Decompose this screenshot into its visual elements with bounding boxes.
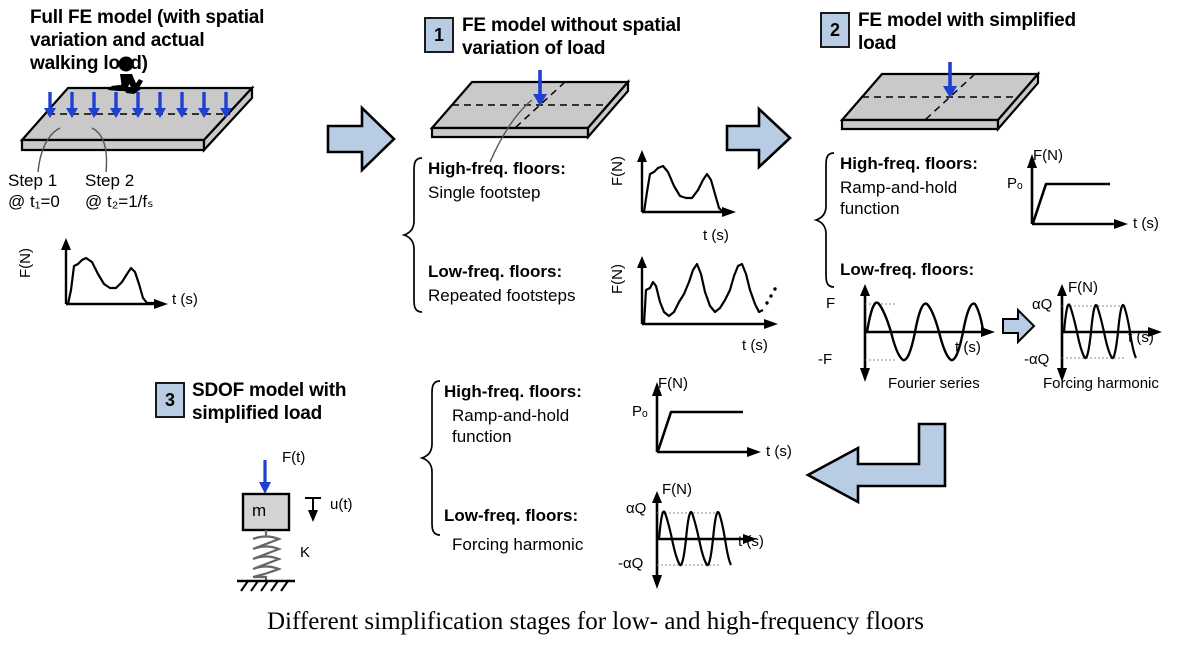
stage1-row0-heading: High-freq. floors:	[428, 158, 566, 179]
sdof-force-arrow	[259, 460, 271, 494]
stage0-plot-xlabel: t (s)	[172, 292, 198, 308]
ground-hatching	[241, 581, 288, 591]
stage2-row0-ytick: Pₒ	[1007, 176, 1023, 192]
stage2-row0-text: Ramp-and-hold function	[840, 177, 980, 219]
step2-leader	[92, 128, 106, 172]
stage2-harmonic-ytick-bottom: -αQ	[1024, 352, 1049, 368]
stage3-row1-ytick-bottom: -αQ	[618, 556, 643, 572]
stage3-row1-plot	[625, 485, 805, 593]
sdof-displacement-arrow	[305, 498, 321, 522]
stage2-harmonic-ytick-top: αQ	[1032, 297, 1052, 313]
stage1-row0-xlabel: t (s)	[703, 228, 729, 244]
figure-caption: Different simplification stages for low-…	[0, 608, 1191, 636]
stage1-row0-curve	[644, 166, 722, 212]
stage2-number-box: 2	[820, 12, 850, 48]
stage2-fourier-ytick-top: F	[826, 296, 835, 312]
stage1-row1-xlabel: t (s)	[742, 338, 768, 354]
sdof-mass-label: m	[252, 500, 266, 521]
stage0-title: Full FE model (with spatial variation an…	[30, 6, 275, 75]
stage2-harmonic-xlabel: t (s)	[1128, 330, 1154, 346]
stage2-fourier-ytick-bottom: -F	[818, 352, 832, 368]
stage2-ramp-hold-curve	[1033, 184, 1110, 223]
stage1-number-box: 1	[424, 17, 454, 53]
sdof-spring-label: K	[300, 545, 310, 561]
step1-line1: Step 1	[8, 170, 60, 191]
stage3-number-box: 3	[155, 382, 185, 418]
stage2-fourier-plot	[835, 282, 1025, 386]
stage1-row0-text: Single footstep	[428, 182, 540, 203]
stage1-row1-text: Repeated footsteps	[428, 285, 575, 306]
arrow-stage1-to-stage2	[722, 102, 796, 174]
stage3-row0-xlabel: t (s)	[766, 444, 792, 460]
stage2-row0-heading: High-freq. floors:	[840, 153, 978, 174]
stage1-row1-heading: Low-freq. floors:	[428, 261, 562, 282]
stage2-row0-xlabel: t (s)	[1133, 216, 1159, 232]
stage3-row0-ytick: Pₒ	[632, 404, 648, 420]
stage3-row1-xlabel: t (s)	[738, 534, 764, 550]
stage3-title: SDOF model with simplified load	[192, 379, 427, 425]
stage1-number: 1	[434, 26, 444, 44]
stage3-row1-text: Forcing harmonic	[452, 534, 583, 555]
plate-front-edge	[432, 128, 588, 137]
step2-line2: @ t₂=1/fₛ	[85, 191, 153, 212]
sdof-model-figure	[215, 450, 385, 595]
stage1-row1-plot	[620, 256, 800, 344]
stage2-title: FE model with simplified load	[858, 9, 1083, 55]
stage0-grf-plot	[30, 238, 230, 318]
stage3-row1-heading: Low-freq. floors:	[444, 505, 578, 526]
stage3-row0-heading: High-freq. floors:	[444, 381, 582, 402]
stage2-row1-heading: Low-freq. floors:	[840, 259, 974, 280]
sdof-spring	[253, 530, 279, 581]
stage2-row0-ylabel: F(N)	[1033, 148, 1063, 164]
arrow-stage2-to-stage3	[802, 420, 962, 520]
stage2-harmonic-ylabel: F(N)	[1068, 280, 1098, 296]
stage1-row1-ylabel: F(N)	[610, 264, 626, 294]
step1-line2: @ t₁=0	[8, 191, 60, 212]
step1-annotation: Step 1 @ t₁=0	[8, 170, 60, 212]
stage3-row1-ytick-top: αQ	[626, 501, 646, 517]
stage3-brace	[418, 378, 444, 538]
stage2-fourier-caption: Fourier series	[888, 376, 980, 392]
stage2-plate-figure	[830, 62, 1050, 152]
sdof-force-label: F(t)	[282, 450, 305, 466]
stage2-brace	[812, 150, 838, 290]
step2-line1: Step 2	[85, 170, 153, 191]
stage0-plot-ylabel: F(N)	[18, 248, 34, 278]
stage3-ramp-hold-curve	[658, 412, 743, 451]
plate-front-edge	[842, 120, 998, 129]
stage2-harmonic-caption: Forcing harmonic	[1043, 376, 1159, 392]
stage3-number: 3	[165, 391, 175, 409]
stage1-brace	[400, 155, 426, 315]
stage1-title: FE model without spatial variation of lo…	[462, 14, 717, 60]
stage2-fourier-xlabel: t (s)	[955, 340, 981, 356]
stage1-row0-ylabel: F(N)	[610, 156, 626, 186]
step2-annotation: Step 2 @ t₂=1/fₛ	[85, 170, 153, 212]
stage0-grf-curve	[68, 258, 154, 304]
stage1-plate-figure	[420, 70, 640, 160]
arrow-stage0-to-stage1	[322, 100, 402, 178]
stage2-harmonic-plot	[1040, 282, 1190, 386]
stage3-row0-text: Ramp-and-hold function	[452, 405, 602, 447]
step1-leader	[38, 128, 60, 172]
stage3-row0-ylabel: F(N)	[658, 376, 688, 392]
stage2-number: 2	[830, 21, 840, 39]
stage1-row1-curve	[644, 264, 763, 324]
stage3-row1-ylabel: F(N)	[662, 482, 692, 498]
sdof-displacement-label: u(t)	[330, 497, 353, 513]
continuation-dots	[765, 287, 776, 304]
